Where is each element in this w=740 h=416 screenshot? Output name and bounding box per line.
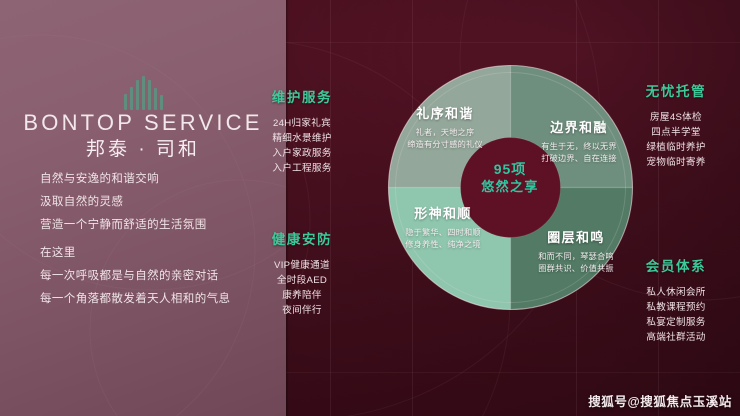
service-column-jiankang: 健康安防 VIP健康通道 全时段AED 康养陪伴 夜间伴行 <box>238 228 366 318</box>
grid-rule-vertical <box>330 0 331 416</box>
service-item: 精细水景维护 <box>238 131 366 146</box>
tagline-line: 汲取自然的灵感 <box>40 195 280 209</box>
service-item: 入户家政服务 <box>238 146 366 161</box>
service-column-weihu: 维护服务 24H归家礼宾 精细水景维护 入户家政服务 入户工程服务 <box>238 86 366 176</box>
service-item: 夜间伴行 <box>238 303 366 318</box>
diagram-hub-label: 95项 悠然之享 <box>462 160 558 196</box>
service-item: 入户工程服务 <box>238 161 366 176</box>
panel-edge-shadow <box>286 0 289 416</box>
grid-rule-vertical <box>658 0 659 416</box>
hub-caption: 悠然之享 <box>462 178 558 196</box>
hub-count: 95项 <box>462 160 558 178</box>
service-item: 全时段AED <box>238 273 366 288</box>
watermark: 搜狐号@搜狐焦点玉溪站 <box>588 391 732 410</box>
service-item: 24H归家礼宾 <box>238 116 366 131</box>
service-item: 康养陪伴 <box>238 288 366 303</box>
service-item: VIP健康通道 <box>238 258 366 273</box>
equalizer-bars-icon <box>120 70 166 110</box>
service-column-title: 健康安防 <box>238 228 366 248</box>
brand-panel: BONTOP SERVICE 邦泰 · 司和 自然与安逸的和谐交响 汲取自然的灵… <box>0 0 286 416</box>
presentation-slide: BONTOP SERVICE 邦泰 · 司和 自然与安逸的和谐交响 汲取自然的灵… <box>0 0 740 416</box>
service-item: 高端社群活动 <box>612 330 740 345</box>
service-column-title: 维护服务 <box>238 86 366 106</box>
pinwheel-diagram: 礼序和谐 礼者，天地之序 缔造有分寸感的礼仪 边界和融 有生于无，终以无界 打破… <box>378 55 643 320</box>
